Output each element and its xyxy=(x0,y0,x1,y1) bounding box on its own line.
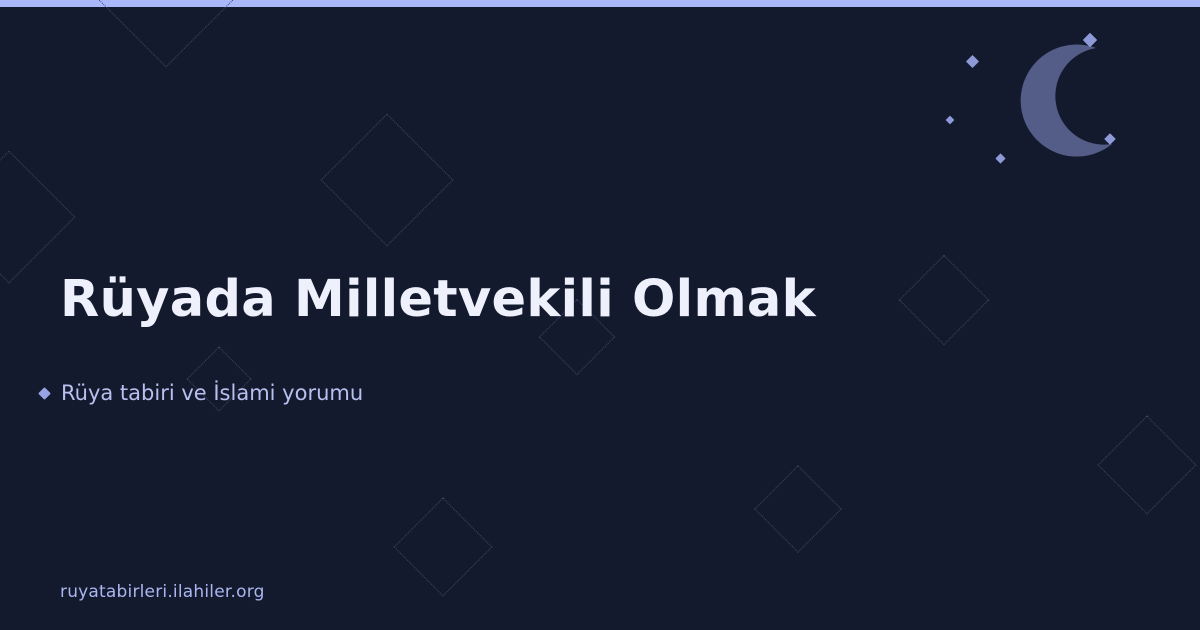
page-subtitle: Rüya tabiri ve İslami yorumu xyxy=(61,379,363,407)
subtitle-row: Rüya tabiri ve İslami yorumu xyxy=(40,379,363,407)
social-card: Rüyada Milletvekili Olmak Rüya tabiri ve… xyxy=(0,0,1200,630)
site-url: ruyatabirleri.ilahiler.org xyxy=(60,582,265,602)
content-block: Rüyada Milletvekili Olmak Rüya tabiri ve… xyxy=(60,0,1120,630)
page-title: Rüyada Milletvekili Olmak xyxy=(60,270,816,330)
diamond-bullet-icon xyxy=(38,387,51,400)
